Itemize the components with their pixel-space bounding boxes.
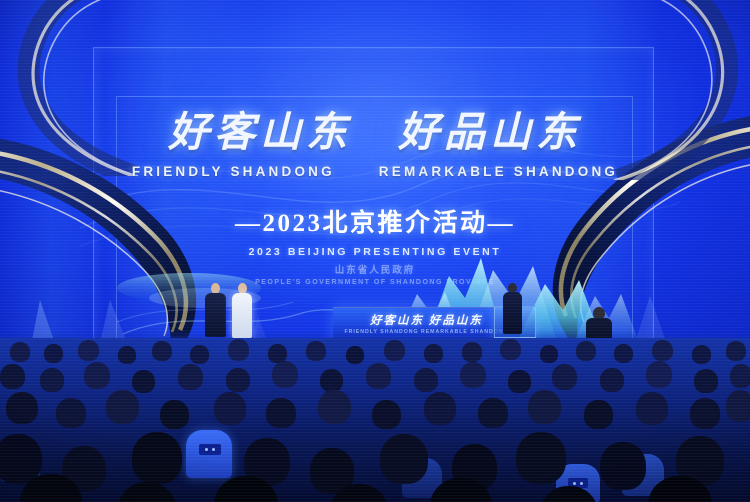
subtitle-chinese: —2023北京推介活动—: [0, 203, 750, 239]
audience-head: [226, 368, 250, 392]
person-male-host: [205, 283, 226, 337]
audience-head: [460, 362, 486, 388]
torso: [503, 292, 522, 334]
audience-head: [152, 341, 172, 361]
audience-head: [190, 345, 209, 364]
audience-head: [414, 368, 438, 392]
title-chinese-right: 好品山东: [398, 112, 582, 153]
audience-head: [730, 364, 750, 388]
torso: [232, 293, 252, 338]
audience-head: [132, 370, 155, 393]
audience-head: [78, 340, 99, 361]
audience-head: [500, 339, 521, 360]
person-female-host: [232, 283, 252, 338]
audience-head: [646, 361, 672, 388]
audience-head: [372, 400, 401, 429]
audience-head: [380, 434, 428, 484]
audience-head: [320, 369, 343, 392]
chair-label: [199, 444, 221, 455]
audience-head: [118, 346, 136, 364]
audience-head: [584, 400, 613, 429]
audience-head: [306, 341, 326, 361]
title-chinese-left: 好客山东: [168, 112, 352, 153]
audience-head: [516, 432, 566, 484]
podium-banner: 好客山东 好品山东 FRIENDLY SHANDONG REMARKABLE S…: [333, 307, 520, 341]
podium-banner-chinese: 好客山东 好品山东: [333, 312, 520, 328]
chinese-title-row: 好客山东 好品山东: [0, 112, 750, 153]
audience-head: [652, 340, 673, 361]
audience-head: [726, 390, 750, 422]
audience-head: [424, 344, 443, 363]
audience-head: [552, 364, 577, 390]
podium-banner-english: FRIENDLY SHANDONG REMARKABLE SHANDONG: [333, 329, 520, 335]
audience-head: [44, 344, 63, 363]
audience-head: [508, 370, 531, 393]
title-english-left: FRIENDLY SHANDONG: [132, 164, 335, 179]
audience-head: [600, 368, 624, 392]
audience-head: [576, 341, 596, 361]
audience-head: [228, 339, 249, 361]
audience-head: [106, 390, 139, 424]
audience-head: [424, 392, 456, 425]
person-speaker-at-lectern: [503, 283, 522, 334]
audience-head: [690, 398, 720, 429]
audience-head: [214, 392, 246, 425]
audience-head: [540, 345, 558, 363]
audience-head: [600, 442, 646, 490]
audience-head: [266, 398, 296, 428]
event-photo-scene: 好客山东 好品山东 FRIENDLY SHANDONG REMARKABLE S…: [0, 0, 750, 502]
audience-head: [384, 340, 405, 361]
audience-head: [6, 392, 38, 424]
audience-head: [694, 369, 718, 393]
audience-head: [160, 400, 189, 429]
audience-head: [346, 346, 364, 364]
title-english-right: REMARKABLE SHANDONG: [379, 164, 618, 179]
audience-head: [178, 364, 203, 390]
audience-head: [0, 364, 25, 389]
audience-head: [272, 361, 298, 388]
audience-head: [462, 342, 482, 362]
audience-head: [636, 392, 668, 425]
audience-head: [614, 344, 633, 363]
audience-head: [318, 390, 351, 424]
audience-area: [0, 338, 750, 502]
english-title-row: FRIENDLY SHANDONG REMARKABLE SHANDONG: [0, 164, 750, 179]
audience-head: [10, 342, 30, 362]
audience-head: [528, 390, 561, 424]
audience-head: [132, 432, 182, 484]
audience-head: [692, 345, 711, 364]
audience-head: [56, 398, 86, 428]
audience-head: [726, 341, 746, 361]
torso: [205, 293, 226, 337]
audience-head: [40, 368, 64, 392]
audience-head: [478, 398, 508, 428]
audience-head: [366, 363, 391, 389]
audience-head: [84, 362, 110, 389]
